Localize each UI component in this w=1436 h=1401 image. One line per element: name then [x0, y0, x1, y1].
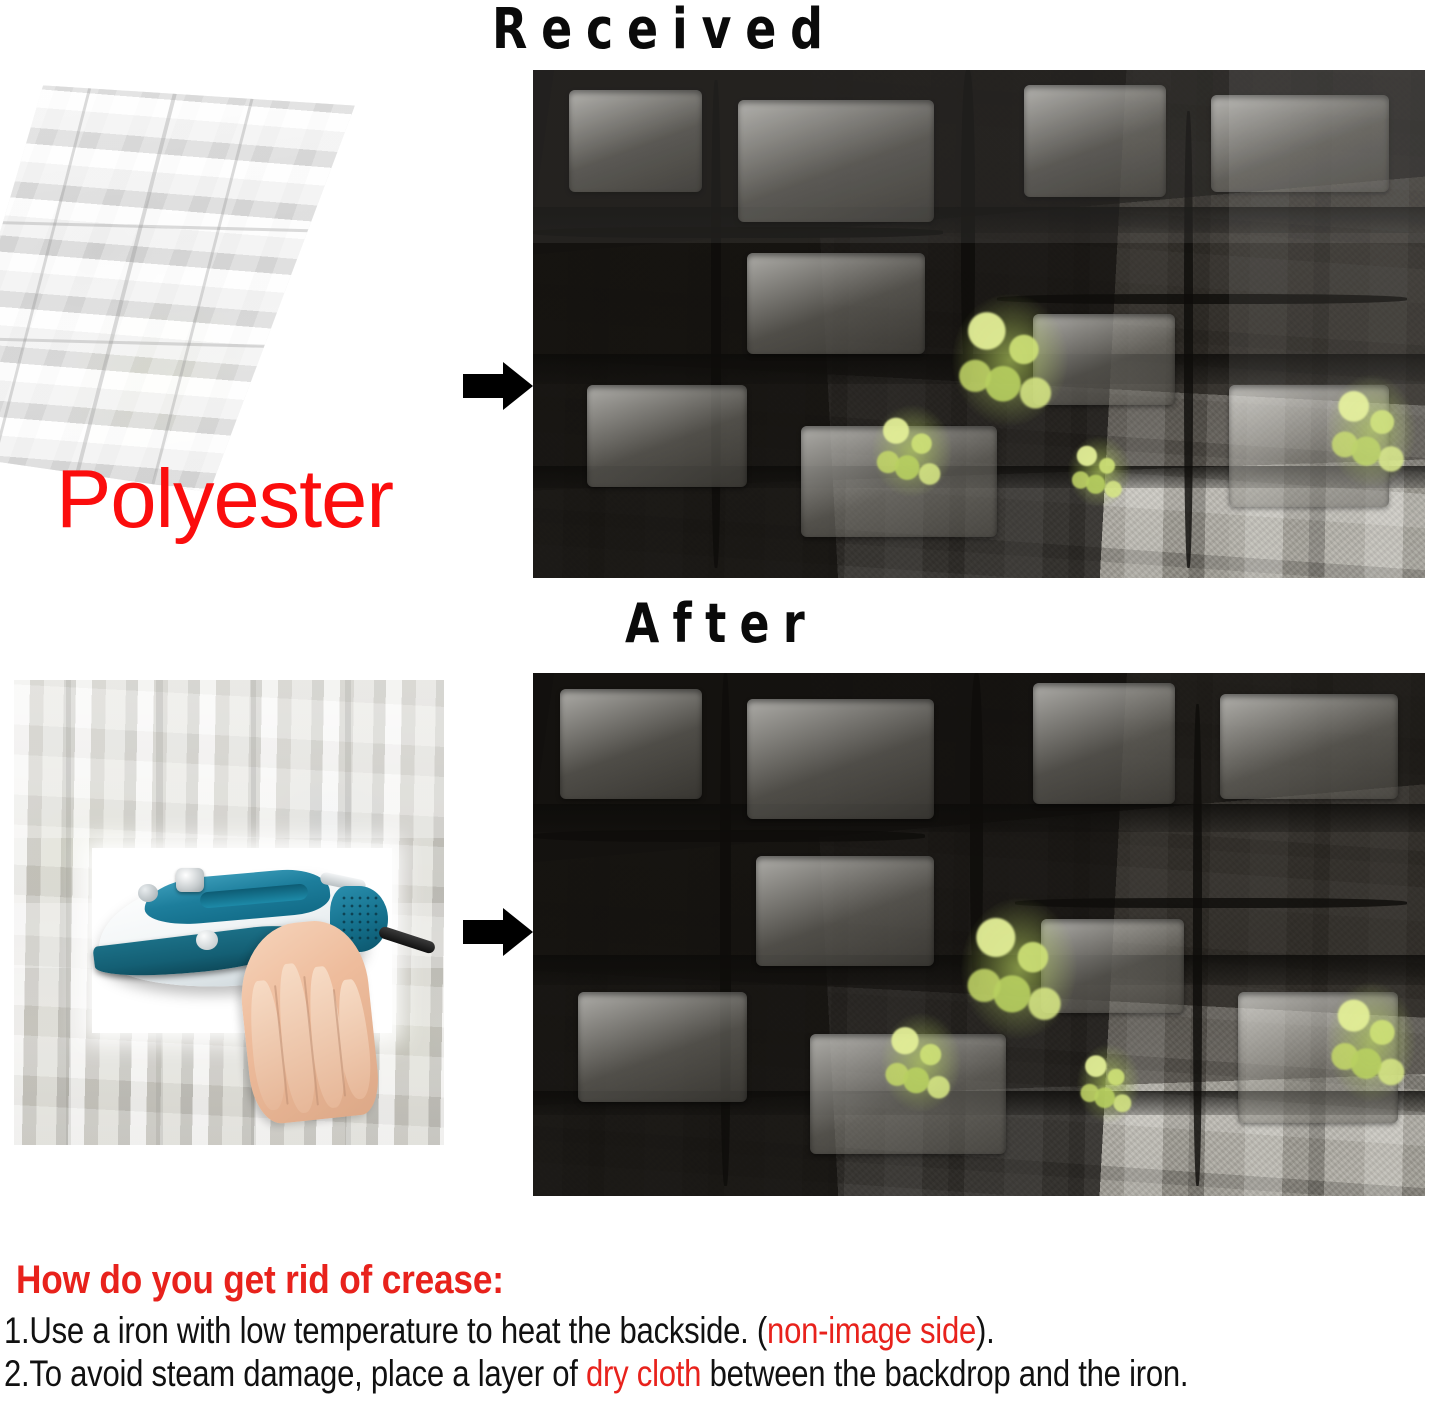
care-step-2-highlight: dry cloth: [586, 1353, 701, 1394]
backdrop-stripe: [66, 680, 71, 1145]
fabric-crease: [0, 221, 323, 233]
fabric-crease: [0, 87, 92, 487]
rock-fissure: [1193, 704, 1202, 1185]
rock-slab: [560, 689, 703, 799]
rock-slab: [747, 253, 925, 355]
arrow-shaft: [463, 920, 507, 944]
iron-temperature-dial: [196, 930, 218, 950]
rock-slab: [747, 699, 934, 819]
received-backdrop-photo: [533, 70, 1425, 578]
care-step-2-text-a: 2.To avoid steam damage, place a layer o…: [4, 1353, 586, 1394]
fabric-crease: [150, 91, 256, 491]
arrow-head: [503, 362, 533, 410]
care-step-1-text-a: 1.Use a iron with low temperature to hea…: [4, 1310, 767, 1351]
arrow-head: [503, 908, 533, 956]
rock-fissure: [720, 673, 731, 1186]
ironing-demo-image: [92, 848, 392, 1033]
after-heading: After: [625, 597, 818, 651]
rock-slab: [587, 385, 748, 487]
rock-slab: [756, 856, 934, 966]
backdrop-band: [14, 680, 444, 838]
received-heading: Received: [492, 2, 837, 58]
rock-fissure: [533, 830, 925, 842]
after-backdrop-photo: [533, 673, 1425, 1196]
right-arrow-icon: [463, 362, 533, 410]
iron-steam-knob: [176, 868, 204, 892]
foliage: [1068, 436, 1130, 507]
arrow-shaft: [463, 374, 507, 398]
polyester-material-label: Polyester: [56, 457, 393, 540]
rock-slab: [578, 992, 747, 1102]
fabric-panel-seam: [1229, 70, 1425, 578]
rock-fissure: [1015, 898, 1407, 908]
care-step-1: 1.Use a iron with low temperature to hea…: [4, 1310, 995, 1352]
care-step-1-text-b: ).: [976, 1310, 994, 1351]
fabric-crease: [0, 337, 293, 349]
fabric-crease: [71, 89, 178, 489]
care-step-1-highlight: non-image side: [767, 1310, 976, 1351]
rock-slab: [1033, 683, 1176, 803]
rock-slab: [1220, 694, 1398, 799]
foliage: [1077, 1044, 1139, 1122]
care-instructions-heading: How do you get rid of crease:: [16, 1258, 504, 1303]
care-step-2-text-b: between the backdrop and the iron.: [701, 1353, 1188, 1394]
care-step-2: 2.To avoid steam damage, place a layer o…: [4, 1353, 1188, 1395]
right-arrow-icon: [463, 908, 533, 956]
folded-polyester-fabric-image: [0, 85, 358, 494]
iron-dial: [138, 884, 158, 902]
